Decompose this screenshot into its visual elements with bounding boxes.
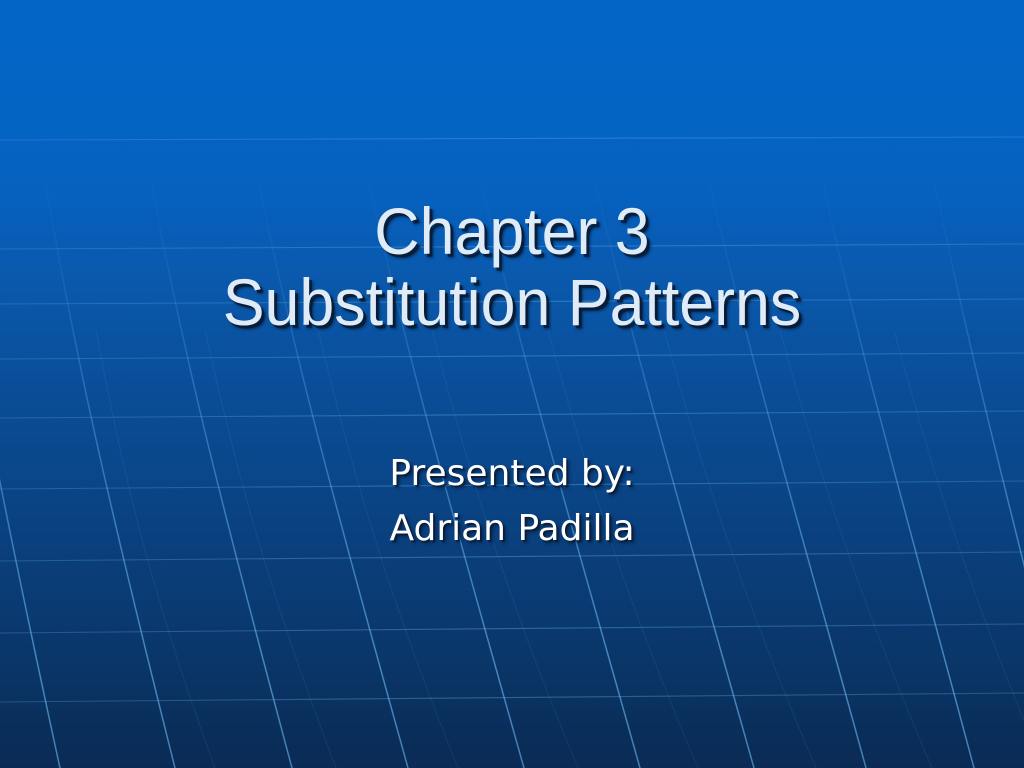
subtitle-line-2: Adrian Padilla (0, 502, 1024, 557)
slide-content: Chapter 3 Substitution Patterns Presente… (0, 0, 1024, 768)
slide-subtitle: Presented by: Adrian Padilla (0, 447, 1024, 556)
title-slide: Chapter 3 Substitution Patterns Presente… (0, 0, 1024, 768)
page-title: Chapter 3 Substitution Patterns (0, 196, 1024, 339)
title-line-1: Chapter 3 (26, 196, 999, 267)
title-line-2: Substitution Patterns (26, 267, 999, 338)
subtitle-line-1: Presented by: (0, 447, 1024, 502)
